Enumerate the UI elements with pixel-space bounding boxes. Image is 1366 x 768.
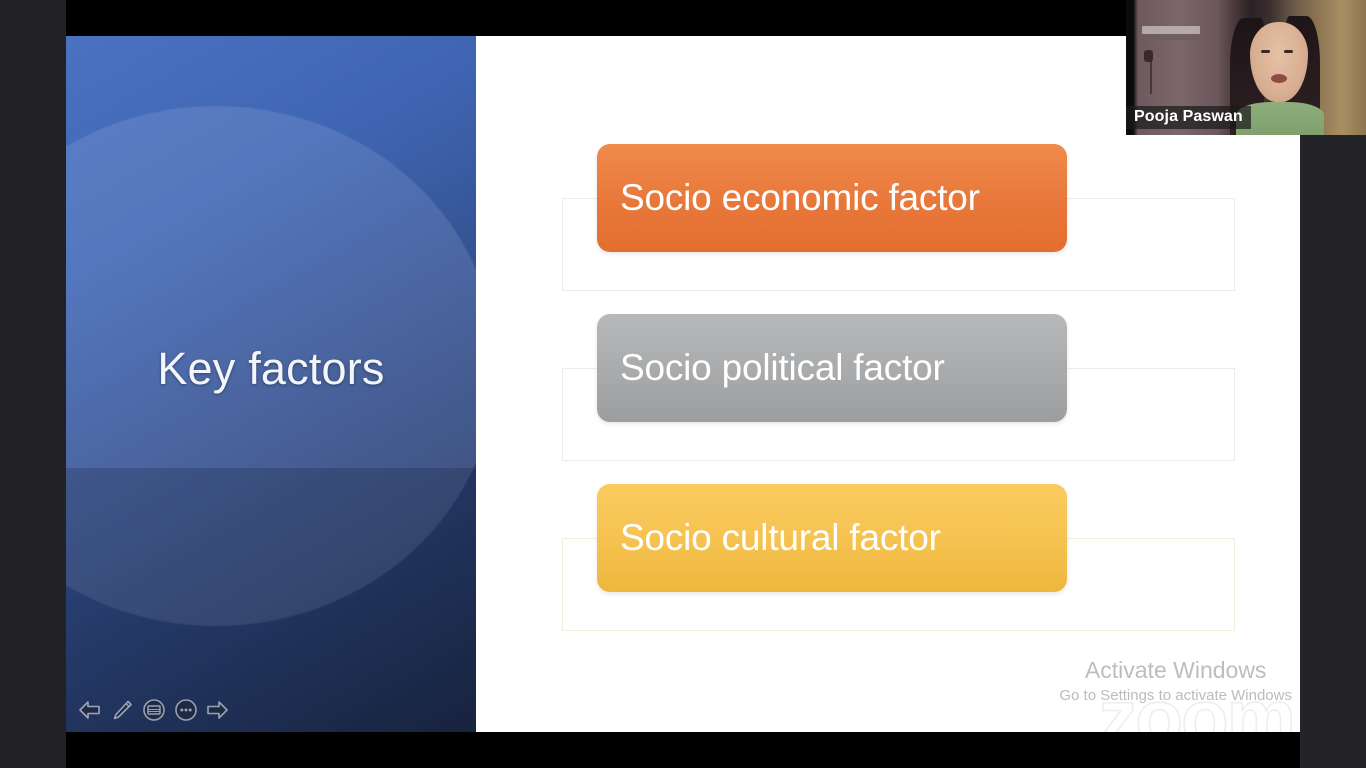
activation-subtitle: Go to Settings to activate Windows	[1059, 687, 1292, 704]
right-arrow-icon	[206, 700, 230, 720]
zoom-shared-screen: Key factors Socio economic factor Socio …	[0, 0, 1366, 768]
factor-pill-socio-political: Socio political factor	[597, 314, 1067, 422]
pen-icon	[110, 698, 134, 722]
slide-view-button[interactable]	[140, 696, 168, 724]
wall-shelf-shadow	[1142, 34, 1200, 40]
slide-content-panel: Socio economic factor Socio political fa…	[476, 36, 1300, 732]
factor-pill-socio-economic: Socio economic factor	[597, 144, 1067, 252]
letterbox-top	[66, 0, 1300, 36]
next-slide-button[interactable]	[204, 696, 232, 724]
windows-activation-watermark: Activate Windows Go to Settings to activ…	[1059, 657, 1292, 704]
participant-name-label: Pooja Paswan	[1126, 106, 1251, 129]
ellipsis-icon	[174, 698, 198, 722]
participant-video-tile[interactable]: Pooja Paswan	[1126, 0, 1366, 135]
factor-row: Socio cultural factor	[476, 476, 1300, 646]
slide-title: Key factors	[66, 36, 476, 732]
letterbox-left	[0, 0, 66, 768]
presentation-slide: Key factors Socio economic factor Socio …	[66, 36, 1300, 732]
mouth	[1271, 74, 1287, 83]
screen-icon	[142, 698, 166, 722]
factor-row: Socio political factor	[476, 306, 1300, 476]
factor-pill-socio-cultural: Socio cultural factor	[597, 484, 1067, 592]
previous-slide-button[interactable]	[76, 696, 104, 724]
left-arrow-icon	[78, 700, 102, 720]
eye-right	[1284, 50, 1293, 53]
factor-row: Socio economic factor	[476, 136, 1300, 306]
annotate-pen-button[interactable]	[108, 696, 136, 724]
activation-title: Activate Windows	[1059, 657, 1292, 685]
letterbox-bottom	[66, 732, 1300, 768]
more-options-button[interactable]	[172, 696, 200, 724]
wall-cord	[1150, 60, 1152, 94]
wall-shelf	[1142, 26, 1200, 34]
eye-left	[1261, 50, 1270, 53]
slide-title-panel: Key factors	[66, 36, 476, 732]
zoom-logo-watermark: zoom	[1098, 678, 1294, 732]
presenter-toolbar[interactable]	[76, 696, 232, 724]
